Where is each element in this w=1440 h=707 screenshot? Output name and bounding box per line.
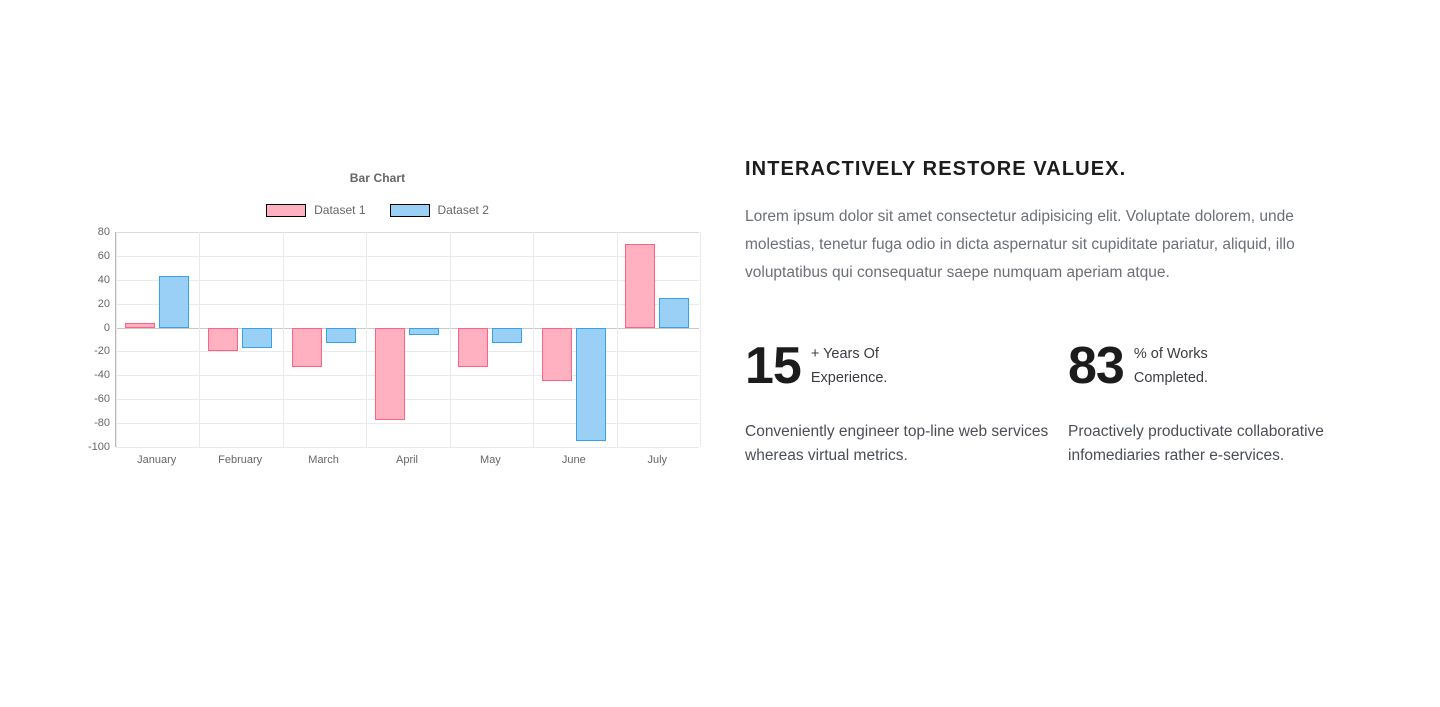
bar-group-may (449, 232, 532, 447)
legend-item-dataset-2[interactable]: Dataset 2 (390, 203, 489, 217)
chart-title: Bar Chart (74, 170, 699, 186)
x-axis-tick-february: February (218, 454, 262, 466)
stat-header: 15 + Years Of Experience. (745, 338, 1068, 394)
y-axis-tick--60: -60 (94, 393, 110, 405)
stat-caption: + Years Of Experience. (811, 342, 888, 390)
stat-caption: % of Works Completed. (1134, 342, 1208, 390)
bar-february-dataset-2[interactable] (242, 328, 272, 348)
stat-caption-line-1: % of Works (1134, 342, 1208, 366)
lead-paragraph: Lorem ipsum dolor sit amet consectetur a… (745, 203, 1360, 287)
stat-description: Conveniently engineer top-line web servi… (745, 420, 1068, 468)
bar-april-dataset-1[interactable] (375, 328, 405, 420)
bar-march-dataset-1[interactable] (292, 328, 322, 367)
stat-caption-line-1: + Years Of (811, 342, 888, 366)
bar-february-dataset-1[interactable] (208, 328, 238, 352)
bar-may-dataset-2[interactable] (492, 328, 522, 344)
bar-group-july (616, 232, 699, 447)
content-block: INTERACTIVELY RESTORE VALUEX. Lorem ipsu… (745, 155, 1375, 468)
stat-number: 83 (1068, 340, 1124, 392)
x-axis-tick-labels: JanuaryFebruaryMarchAprilMayJuneJuly (115, 454, 699, 474)
bar-june-dataset-1[interactable] (542, 328, 572, 382)
bar-january-dataset-1[interactable] (125, 323, 155, 328)
legend-label-dataset-1: Dataset 1 (314, 203, 365, 217)
x-axis-tick-april: April (396, 454, 418, 466)
y-axis-tick--40: -40 (94, 369, 110, 381)
stat-card-years-experience: 15 + Years Of Experience. Conveniently e… (745, 338, 1068, 468)
bar-group-april (365, 232, 448, 447)
bar-group-june (532, 232, 615, 447)
chart-bars (115, 232, 699, 447)
chart-legend: Dataset 1 Dataset 2 (74, 203, 699, 217)
y-axis-tick-60: 60 (98, 250, 110, 262)
gridline-x-7 (700, 232, 701, 447)
y-axis-tick--20: -20 (94, 345, 110, 357)
y-axis-tick-labels: 806040200-20-40-60-80-100 (74, 232, 110, 447)
y-axis-tick-0: 0 (104, 322, 110, 334)
stat-card-works-completed: 83 % of Works Completed. Proactively pro… (1068, 338, 1375, 468)
bar-july-dataset-1[interactable] (625, 244, 655, 328)
y-axis-tick-20: 20 (98, 298, 110, 310)
legend-swatch-dataset-2 (390, 204, 430, 217)
legend-item-dataset-1[interactable]: Dataset 1 (266, 203, 365, 217)
stat-header: 83 % of Works Completed. (1068, 338, 1375, 394)
legend-swatch-dataset-1 (266, 204, 306, 217)
gridline-y--100 (116, 447, 699, 448)
bar-june-dataset-2[interactable] (576, 328, 606, 441)
stat-number: 15 (745, 340, 801, 392)
bar-may-dataset-1[interactable] (458, 328, 488, 367)
x-axis-tick-july: July (648, 454, 668, 466)
x-axis-tick-june: June (562, 454, 586, 466)
stats-row: 15 + Years Of Experience. Conveniently e… (745, 338, 1375, 468)
y-axis-tick-40: 40 (98, 274, 110, 286)
bar-january-dataset-2[interactable] (159, 276, 189, 327)
bar-chart[interactable]: Bar Chart Dataset 1 Dataset 2 806040200-… (74, 170, 699, 485)
stat-caption-line-2: Completed. (1134, 366, 1208, 390)
bar-group-january (115, 232, 198, 447)
x-axis-tick-march: March (308, 454, 339, 466)
x-axis-tick-january: January (137, 454, 176, 466)
page-root: Bar Chart Dataset 1 Dataset 2 806040200-… (0, 0, 1440, 707)
page-title: INTERACTIVELY RESTORE VALUEX. (745, 155, 1375, 183)
bar-group-march (282, 232, 365, 447)
y-axis-tick--80: -80 (94, 417, 110, 429)
y-axis-tick--100: -100 (88, 441, 110, 453)
bar-march-dataset-2[interactable] (326, 328, 356, 344)
stat-caption-line-2: Experience. (811, 366, 888, 390)
bar-july-dataset-2[interactable] (659, 298, 689, 328)
bar-april-dataset-2[interactable] (409, 328, 439, 335)
plot-area: 806040200-20-40-60-80-100 JanuaryFebruar… (74, 232, 699, 485)
bar-group-february (198, 232, 281, 447)
y-axis-tick-80: 80 (98, 226, 110, 238)
x-axis-tick-may: May (480, 454, 501, 466)
stat-description: Proactively productivate collaborative i… (1068, 420, 1375, 468)
legend-label-dataset-2: Dataset 2 (438, 203, 489, 217)
chart-column: Bar Chart Dataset 1 Dataset 2 806040200-… (0, 0, 720, 707)
content-column: INTERACTIVELY RESTORE VALUEX. Lorem ipsu… (720, 0, 1440, 707)
